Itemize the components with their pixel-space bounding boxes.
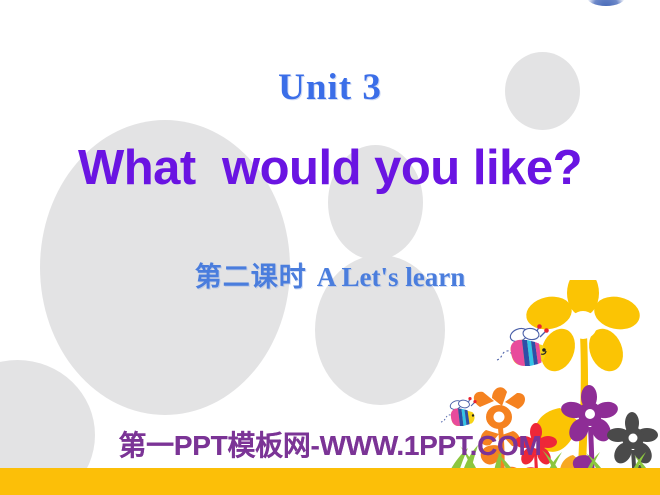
subtitle: 第二课时A Let's learn	[0, 255, 660, 294]
subtitle-chinese: 第二课时	[195, 262, 307, 292]
slide-canvas: Unit 3 What would you like? 第二课时A Let's …	[0, 0, 660, 495]
subtitle-english: A Let's learn	[317, 262, 466, 292]
bee-large-icon	[495, 322, 553, 374]
top-edge-arc-decoration	[586, 0, 626, 6]
unit-label: Unit 3	[0, 66, 660, 109]
watermark-text: 第一PPT模板网-WWW.1PPT.COM	[0, 424, 660, 464]
page-title: What would you like?	[0, 140, 660, 196]
bottom-accent-band	[0, 468, 660, 495]
